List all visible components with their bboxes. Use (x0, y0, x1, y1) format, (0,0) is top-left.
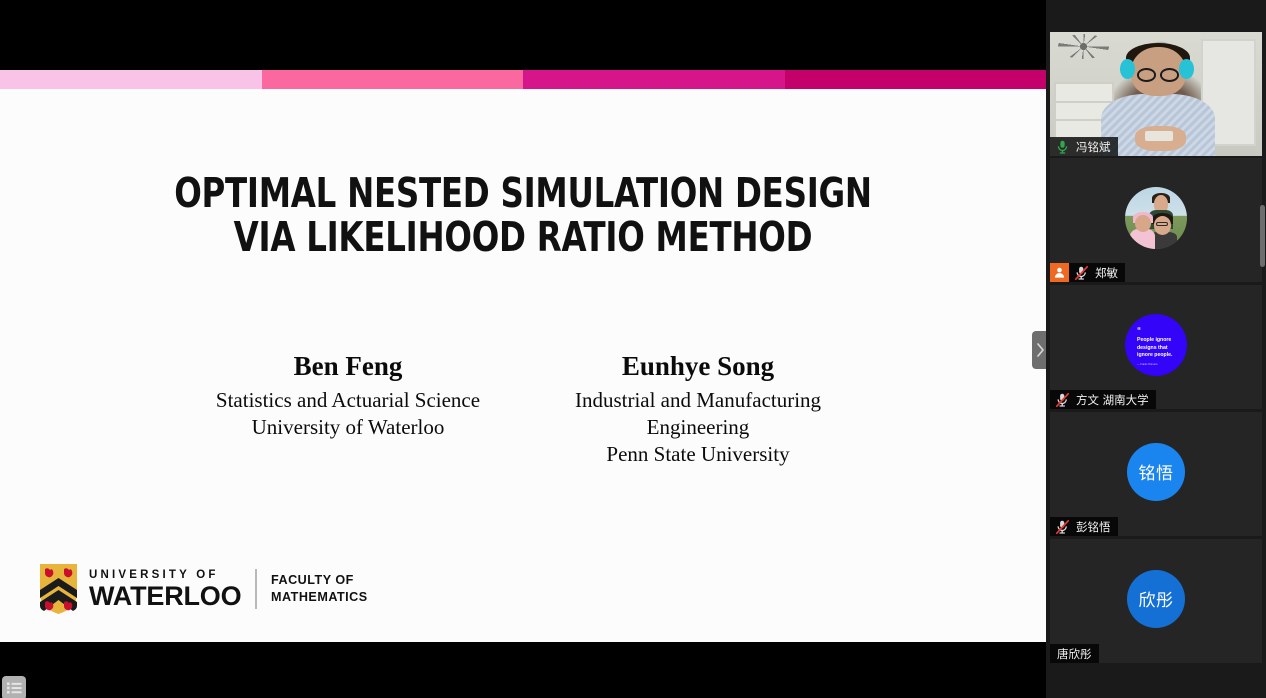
logo-faculty-line: FACULTY OF MATHEMATICS (271, 572, 368, 605)
filmstrip-scrollbar[interactable] (1259, 0, 1266, 698)
participant-filmstrip[interactable]: 冯铭斌 (1046, 0, 1266, 698)
author-entry: Ben Feng Statistics and Actuarial Scienc… (173, 350, 523, 468)
participant-name: 冯铭斌 (1076, 139, 1111, 155)
author-name: Eunhye Song (523, 350, 873, 382)
filmstrip-scrollbar-thumb[interactable] (1260, 205, 1265, 267)
microphone-on-icon (1054, 137, 1071, 156)
participant-name: 彭铭悟 (1076, 519, 1111, 535)
participant-tile[interactable]: “ People ignore designs that ignore peop… (1050, 285, 1262, 409)
participant-tile[interactable]: 郑敏 (1050, 158, 1262, 282)
list-glyph (7, 682, 22, 694)
author-name: Ben Feng (173, 350, 523, 382)
band-magenta (523, 70, 785, 89)
zoom-meeting-window: OPTIMAL NESTED SIMULATION DESIGN VIA LIK… (0, 0, 1266, 698)
microphone-muted-icon (1054, 390, 1071, 409)
avatar-quote-text: People ignore designs that ignore people… (1137, 337, 1179, 360)
author-institution: Penn State University (523, 441, 873, 468)
participant-name-bar: 方文 湖南大学 (1050, 390, 1156, 409)
author-department: Statistics and Actuarial Science (173, 387, 523, 414)
host-badge (1050, 263, 1069, 282)
slide-color-bar (0, 70, 1046, 89)
microphone-muted-icon (1073, 263, 1090, 282)
logo-wordmark: UNIVERSITY OF WATERLOO FACULTY OF MATHEM… (89, 568, 368, 609)
band-light-pink (0, 70, 262, 89)
list-icon[interactable] (2, 676, 26, 698)
microphone-muted-icon (1054, 517, 1071, 536)
university-of-waterloo-logo: UNIVERSITY OF WATERLOO FACULTY OF MATHEM… (40, 564, 368, 614)
logo-waterloo-line: WATERLOO (89, 583, 241, 610)
participant-name-bar: 冯铭斌 (1050, 137, 1118, 156)
waterloo-shield-icon (40, 564, 77, 614)
band-pink (262, 70, 524, 89)
participant-tile[interactable]: 冯铭斌 (1050, 32, 1262, 156)
participant-avatar (1125, 187, 1187, 249)
participant-avatar: 欣彤 (1127, 570, 1185, 628)
quote-mark: “ (1137, 327, 1179, 335)
participant-name: 唐欣彤 (1057, 646, 1092, 662)
author-institution: University of Waterloo (173, 414, 523, 441)
author-entry: Eunhye Song Industrial and Manufacturing… (523, 350, 873, 468)
participant-name: 方文 湖南大学 (1076, 392, 1149, 408)
participant-name-bar: 郑敏 (1050, 263, 1125, 282)
participant-tile[interactable]: 欣彤 唐欣彤 (1050, 539, 1262, 663)
chevron-right-icon (1036, 343, 1045, 357)
participant-avatar: 铭悟 (1127, 443, 1185, 501)
authors-block: Ben Feng Statistics and Actuarial Scienc… (0, 350, 1046, 468)
logo-divider (255, 569, 257, 609)
participant-name-bar: 唐欣彤 (1050, 644, 1099, 663)
participant-avatar: “ People ignore designs that ignore peop… (1125, 314, 1187, 376)
participant-tile[interactable]: 铭悟 彭铭悟 (1050, 412, 1262, 536)
participant-name: 郑敏 (1095, 265, 1118, 281)
author-department: Industrial and Manufacturing Engineering (523, 387, 873, 441)
band-dark-magenta (785, 70, 1047, 89)
shared-screen-area: OPTIMAL NESTED SIMULATION DESIGN VIA LIK… (0, 0, 1046, 698)
participant-name-bar: 彭铭悟 (1050, 517, 1118, 536)
avatar-quote-attribution: — Frank Chimero (1137, 363, 1179, 367)
presentation-slide: OPTIMAL NESTED SIMULATION DESIGN VIA LIK… (0, 70, 1046, 642)
slide-title: OPTIMAL NESTED SIMULATION DESIGN VIA LIK… (63, 172, 983, 260)
